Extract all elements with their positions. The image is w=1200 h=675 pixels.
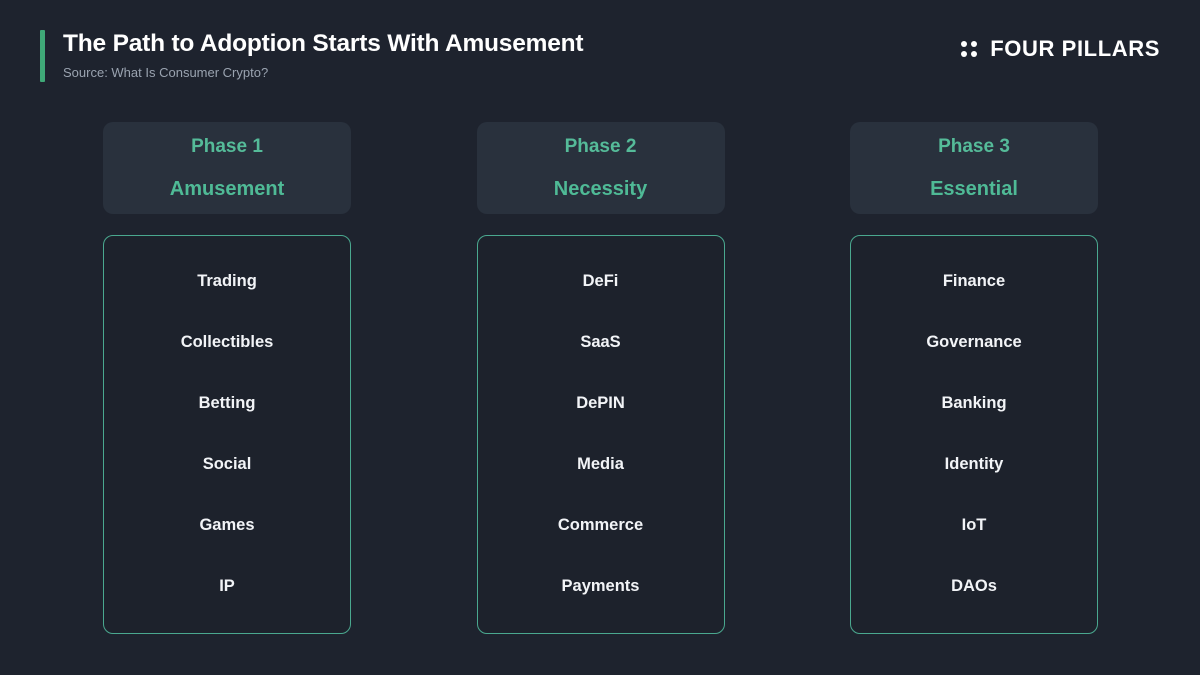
page-subtitle: Source: What Is Consumer Crypto?	[63, 64, 583, 82]
list-item: Social	[203, 454, 252, 474]
phase-name: Amusement	[170, 178, 284, 201]
list-item: Identity	[945, 454, 1004, 474]
phase-items-card-2: DeFi SaaS DePIN Media Commerce Payments	[477, 235, 725, 634]
list-item: Collectibles	[181, 332, 274, 352]
list-item: DePIN	[576, 393, 625, 413]
list-item: Governance	[926, 332, 1021, 352]
brand-logo: FOUR PILLARS	[961, 36, 1160, 62]
list-item: Finance	[943, 271, 1005, 291]
phase-name: Essential	[930, 178, 1018, 201]
phase-columns: Phase 1 Amusement Trading Collectibles B…	[103, 122, 1098, 634]
list-item: IP	[219, 576, 235, 596]
phase-items-card-1: Trading Collectibles Betting Social Game…	[103, 235, 351, 634]
phase-header-1: Phase 1 Amusement	[103, 122, 351, 214]
list-item: Payments	[562, 576, 640, 596]
four-dots-icon	[961, 41, 977, 57]
phase-column-3: Phase 3 Essential Finance Governance Ban…	[850, 122, 1098, 634]
list-item: Betting	[199, 393, 256, 413]
list-item: Trading	[197, 271, 257, 291]
phase-column-2: Phase 2 Necessity DeFi SaaS DePIN Media …	[477, 122, 725, 634]
phase-items-card-3: Finance Governance Banking Identity IoT …	[850, 235, 1098, 634]
list-item: DAOs	[951, 576, 997, 596]
phase-label: Phase 1	[191, 136, 263, 158]
phase-header-3: Phase 3 Essential	[850, 122, 1098, 214]
list-item: SaaS	[580, 332, 620, 352]
list-item: DeFi	[583, 271, 619, 291]
phase-column-1: Phase 1 Amusement Trading Collectibles B…	[103, 122, 351, 634]
slide-root: The Path to Adoption Starts With Amuseme…	[0, 0, 1200, 675]
list-item: Games	[199, 515, 254, 535]
phase-name: Necessity	[554, 178, 647, 201]
list-item: IoT	[962, 515, 987, 535]
accent-bar	[40, 30, 45, 82]
phase-header-2: Phase 2 Necessity	[477, 122, 725, 214]
list-item: Banking	[941, 393, 1006, 413]
title-texts: The Path to Adoption Starts With Amuseme…	[63, 30, 583, 82]
list-item: Media	[577, 454, 624, 474]
title-block: The Path to Adoption Starts With Amuseme…	[40, 30, 583, 82]
page-title: The Path to Adoption Starts With Amuseme…	[63, 30, 583, 58]
brand-name: FOUR PILLARS	[990, 36, 1160, 62]
phase-label: Phase 3	[938, 136, 1010, 158]
list-item: Commerce	[558, 515, 643, 535]
slide-header: The Path to Adoption Starts With Amuseme…	[0, 0, 1200, 100]
phase-label: Phase 2	[565, 136, 637, 158]
